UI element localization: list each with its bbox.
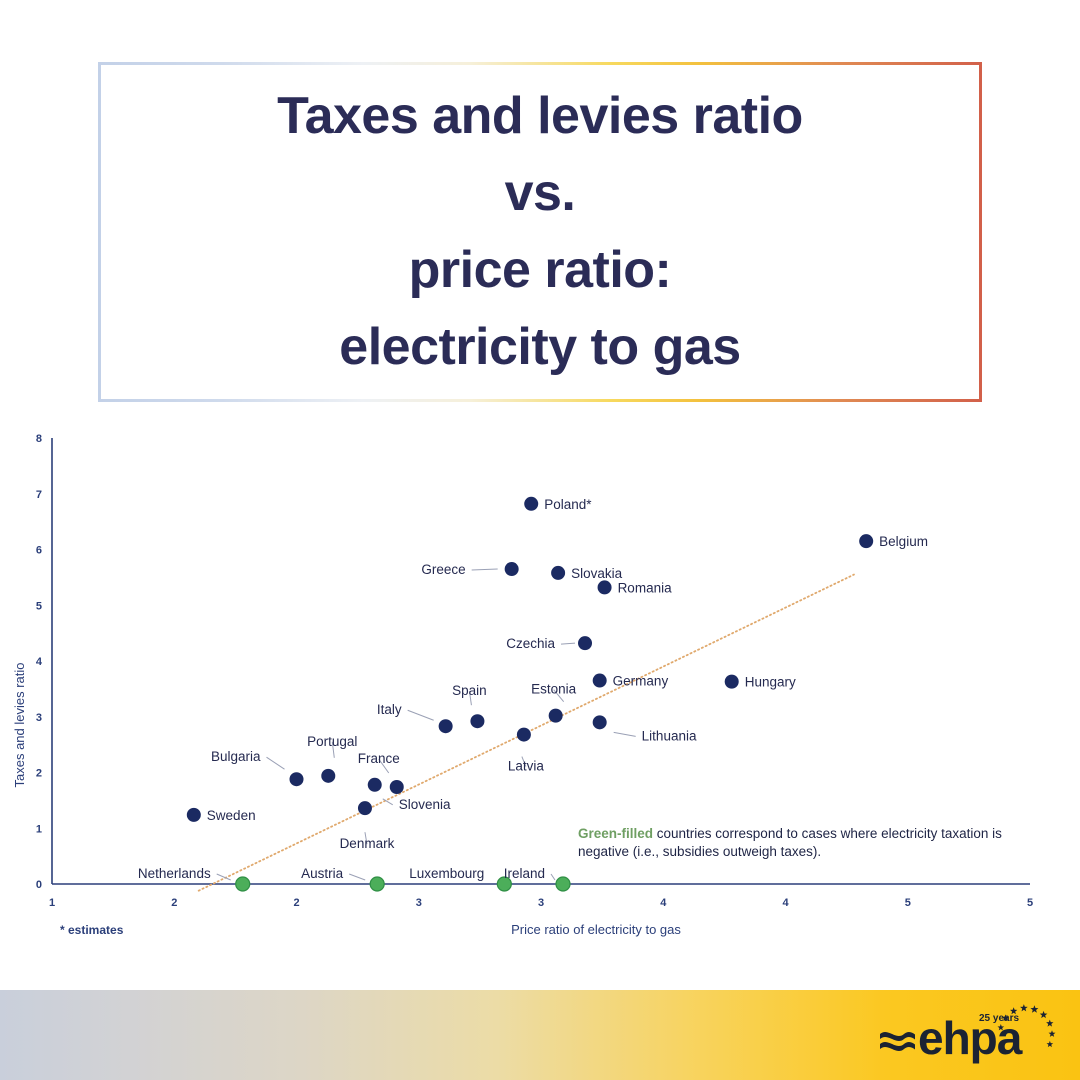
- point-label-poland: Poland*: [544, 497, 592, 512]
- point-label-spain: Spain: [452, 683, 487, 698]
- data-point-romania[interactable]: [598, 580, 612, 594]
- y-tick-label-3: 3: [36, 712, 42, 724]
- title-card: Taxes and levies ratio vs. price ratio: …: [98, 62, 982, 402]
- point-label-portugal: Portugal: [307, 734, 357, 749]
- title-card-inner: Taxes and levies ratio vs. price ratio: …: [101, 65, 979, 399]
- point-label-sweden: Sweden: [207, 808, 256, 823]
- data-point-netherlands[interactable]: [236, 877, 250, 891]
- estimates-footnote: * estimates: [60, 923, 124, 937]
- chart-canvas: Taxes and levies ratio 012345678 1223344…: [0, 415, 1080, 955]
- eu-star: [1030, 1005, 1038, 1013]
- data-point-lithuania[interactable]: [593, 715, 607, 729]
- scatter-chart: Taxes and levies ratio 012345678 1223344…: [0, 415, 1080, 955]
- x-tick-label-2: 2: [293, 897, 299, 909]
- y-tick-label-7: 7: [36, 489, 42, 501]
- point-label-austria: Austria: [301, 866, 344, 881]
- eu-star: [1040, 1011, 1048, 1018]
- legend-green-keyword: Green-filled: [578, 826, 653, 841]
- x-tick-label-7: 5: [905, 897, 911, 909]
- point-label-hungary: Hungary: [745, 675, 796, 690]
- eu-star: [1020, 1004, 1028, 1011]
- data-point-greece[interactable]: [505, 562, 519, 576]
- x-tick-label-4: 3: [538, 897, 544, 909]
- y-tick-label-4: 4: [36, 656, 43, 668]
- data-point-labels: Poland*BelgiumGreeceSlovakiaRomaniaCzech…: [138, 497, 928, 881]
- page-title-line-4: electricity to gas: [339, 309, 740, 386]
- leader-line: [267, 757, 285, 769]
- data-point-spain[interactable]: [470, 714, 484, 728]
- data-point-belgium[interactable]: [859, 534, 873, 548]
- data-point-latvia[interactable]: [517, 728, 531, 742]
- data-point-denmark[interactable]: [358, 801, 372, 815]
- eu-star: [1046, 1020, 1053, 1027]
- logo-anniversary: 25 years: [979, 1013, 1019, 1024]
- leader-line: [408, 710, 434, 720]
- y-tick-label-5: 5: [36, 600, 42, 612]
- leader-line: [551, 874, 555, 880]
- x-tick-label-6: 4: [782, 897, 789, 909]
- data-point-bulgaria[interactable]: [290, 772, 304, 786]
- data-point-czechia[interactable]: [578, 636, 592, 650]
- x-tick-label-5: 4: [660, 897, 667, 909]
- y-axis-ticks: 012345678: [36, 433, 43, 891]
- top-accent-bar: [0, 0, 1080, 31]
- point-label-greece: Greece: [421, 562, 465, 577]
- eu-star: [1047, 1041, 1054, 1047]
- data-point-france[interactable]: [390, 780, 404, 794]
- point-label-belgium: Belgium: [879, 534, 928, 549]
- point-label-france: France: [358, 751, 400, 766]
- x-tick-label-3: 3: [416, 897, 422, 909]
- legend-note-rest: countries correspond to cases where elec…: [653, 826, 1002, 841]
- page-title-line-1: Taxes and levies ratio: [277, 78, 803, 155]
- data-point-slovakia[interactable]: [551, 566, 565, 580]
- leader-line: [614, 732, 636, 736]
- point-label-bulgaria: Bulgaria: [211, 749, 261, 764]
- data-point-italy[interactable]: [439, 719, 453, 733]
- data-point-ireland[interactable]: [556, 877, 570, 891]
- data-point-estonia[interactable]: [549, 709, 563, 723]
- x-tick-label-0: 1: [49, 897, 55, 909]
- page-title-line-2: vs.: [505, 155, 576, 232]
- legend-note-line-2: negative (i.e., subsidies outweigh taxes…: [578, 844, 821, 859]
- ehpa-logo-svg: ehpa 25 years: [878, 998, 1058, 1068]
- point-label-slovakia: Slovakia: [571, 566, 623, 581]
- y-axis-title: Taxes and levies ratio: [12, 662, 27, 787]
- data-point-portugal[interactable]: [321, 769, 335, 783]
- eu-star: [1049, 1030, 1056, 1037]
- data-point-germany[interactable]: [593, 674, 607, 688]
- leader-line: [561, 643, 575, 644]
- x-tick-label-1: 2: [171, 897, 177, 909]
- wave-icon: [880, 1032, 915, 1051]
- legend-note-line-1: Green-filled countries correspond to cas…: [578, 826, 1002, 841]
- y-tick-label-8: 8: [36, 433, 42, 445]
- leader-line: [349, 874, 365, 880]
- y-tick-label-6: 6: [36, 545, 42, 557]
- point-label-romania: Romania: [618, 580, 673, 595]
- data-point-poland[interactable]: [524, 497, 538, 511]
- y-tick-label-0: 0: [36, 879, 42, 891]
- x-axis-title: Price ratio of electricity to gas: [511, 922, 681, 937]
- leader-line: [472, 569, 498, 570]
- leader-line: [217, 874, 231, 880]
- data-point-slovenia[interactable]: [368, 778, 382, 792]
- data-point-hungary[interactable]: [725, 675, 739, 689]
- point-label-luxembourg: Luxembourg: [409, 866, 484, 881]
- point-label-latvia: Latvia: [508, 759, 545, 774]
- point-label-denmark: Denmark: [340, 836, 395, 851]
- x-axis-ticks: 122334455: [49, 897, 1033, 909]
- point-label-germany: Germany: [613, 674, 669, 689]
- y-tick-label-1: 1: [36, 823, 42, 835]
- point-label-ireland: Ireland: [504, 866, 545, 881]
- label-leader-lines: [217, 569, 636, 880]
- point-label-estonia: Estonia: [531, 682, 577, 697]
- ehpa-logo: ehpa 25 years: [878, 998, 1058, 1068]
- x-tick-label-8: 5: [1027, 897, 1033, 909]
- point-label-czechia: Czechia: [506, 636, 555, 651]
- point-label-italy: Italy: [377, 702, 402, 717]
- data-point-sweden[interactable]: [187, 808, 201, 822]
- page-title-line-3: price ratio:: [409, 232, 672, 309]
- data-point-austria[interactable]: [370, 877, 384, 891]
- y-tick-label-2: 2: [36, 768, 42, 780]
- point-label-slovenia: Slovenia: [399, 797, 451, 812]
- point-label-lithuania: Lithuania: [642, 728, 697, 743]
- point-label-netherlands: Netherlands: [138, 866, 211, 881]
